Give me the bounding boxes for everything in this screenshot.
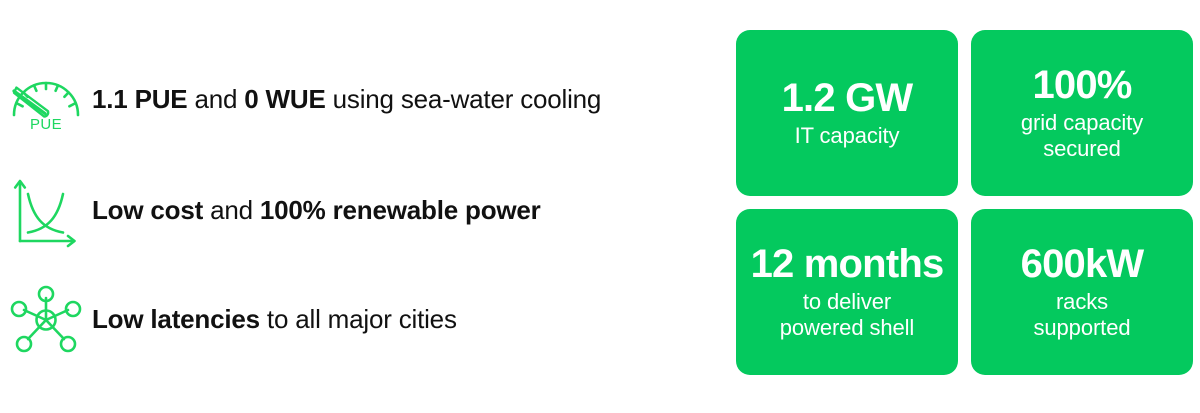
pue-gauge-icon: PUE (0, 69, 92, 131)
feature-text-cost: Low cost and 100% renewable power (92, 195, 541, 226)
feature-segment: Low cost (92, 195, 203, 225)
pue-caption: PUE (0, 116, 92, 133)
cost-curve-chart-icon (0, 175, 92, 247)
stat-value: 1.2 GW (782, 77, 913, 119)
stat-card-it-capacity: 1.2 GW IT capacity (736, 30, 958, 196)
feature-segment: to all major cities (260, 304, 457, 334)
stat-card-rack-power: 600kW racks supported (971, 209, 1193, 375)
stat-value: 600kW (1021, 243, 1144, 285)
feature-list: PUE 1.1 PUE and 0 WUE using sea-water co… (0, 0, 720, 413)
feature-segment: 0 WUE (244, 84, 325, 114)
stat-value: 100% (1032, 64, 1131, 106)
stat-label: racks supported (1034, 289, 1131, 340)
feature-segment: 1.1 PUE (92, 84, 187, 114)
stat-label: IT capacity (795, 123, 900, 149)
feature-segment: 100% renewable power (260, 195, 541, 225)
stat-label: to deliver powered shell (780, 289, 914, 340)
feature-segment: and (187, 84, 244, 114)
stat-card-delivery-time: 12 months to deliver powered shell (736, 209, 958, 375)
network-hub-icon (0, 285, 92, 355)
feature-item-cost: Low cost and 100% renewable power (0, 163, 541, 259)
feature-text-pue: 1.1 PUE and 0 WUE using sea-water coolin… (92, 84, 601, 115)
stat-label: grid capacity secured (1021, 110, 1143, 161)
stat-card-grid-capacity: 100% grid capacity secured (971, 30, 1193, 196)
feature-segment: and (203, 195, 260, 225)
feature-segment: using sea-water cooling (326, 84, 602, 114)
feature-item-latency: Low latencies to all major cities (0, 272, 457, 368)
feature-segment: Low latencies (92, 304, 260, 334)
stat-value: 12 months (751, 243, 944, 285)
feature-text-latency: Low latencies to all major cities (92, 304, 457, 335)
feature-item-pue: PUE 1.1 PUE and 0 WUE using sea-water co… (0, 52, 601, 148)
stat-card-grid: 1.2 GW IT capacity 100% grid capacity se… (736, 30, 1186, 375)
highlights-panel: PUE 1.1 PUE and 0 WUE using sea-water co… (0, 0, 1200, 413)
